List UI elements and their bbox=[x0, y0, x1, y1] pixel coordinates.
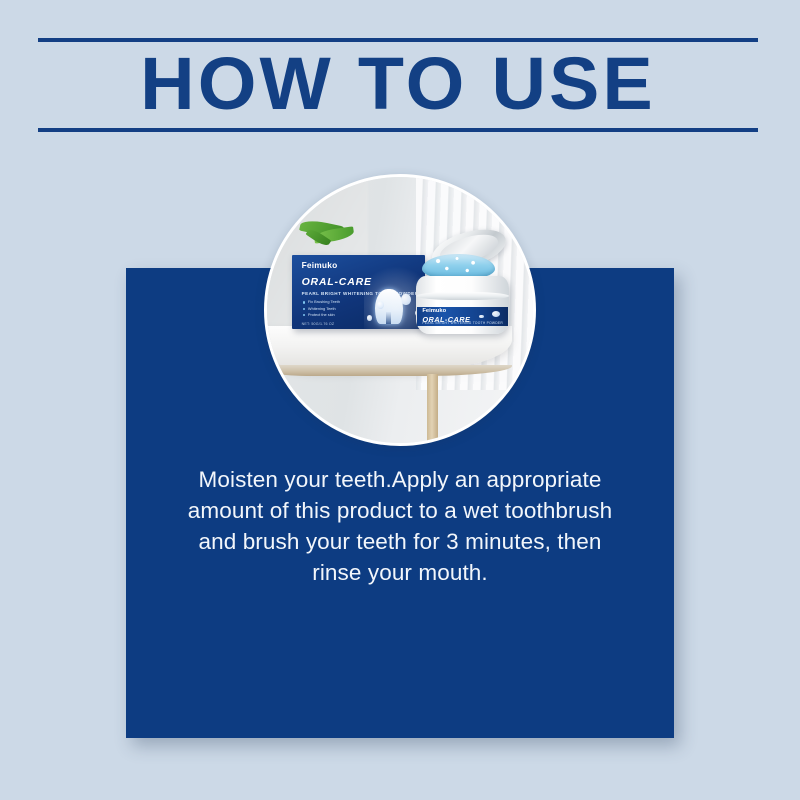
page-title: HOW TO USE bbox=[31, 40, 765, 128]
jar-body: Feimuko ORAL-CARE PEARL BRIGHT WHITENING… bbox=[416, 276, 509, 334]
bubble-icon bbox=[479, 315, 484, 319]
jar-subtitle: PEARL BRIGHT WHITENING TOOTH POWDER bbox=[422, 321, 503, 325]
jar-brand: Feimuko bbox=[422, 308, 446, 314]
poster-canvas: HOW TO USE Moisten your teeth.Apply an a… bbox=[0, 0, 800, 800]
product-photo-circle: Feimuko ORAL-CARE PEARL BRIGHT WHITENING… bbox=[264, 174, 536, 446]
bubble-icon bbox=[401, 294, 410, 306]
jar-label: Feimuko ORAL-CARE PEARL BRIGHT WHITENING… bbox=[417, 307, 508, 327]
carton-net-weight: NET: 50G/1.76 OZ bbox=[302, 322, 335, 326]
header: HOW TO USE bbox=[38, 36, 758, 136]
jar-rim bbox=[416, 292, 509, 300]
product-photo-image: Feimuko ORAL-CARE PEARL BRIGHT WHITENING… bbox=[267, 177, 533, 443]
carton-brand: Feimuko bbox=[302, 260, 338, 270]
carton-feature: Protect the skin bbox=[303, 312, 367, 318]
instruction-text: Moisten your teeth.Apply an appropriate … bbox=[182, 464, 618, 588]
carton-title: ORAL-CARE bbox=[302, 276, 372, 288]
carton-feature-list: Fix Brushing Teeth Whitening Teeth Prote… bbox=[303, 299, 367, 318]
product-jar: Feimuko ORAL-CARE PEARL BRIGHT WHITENING… bbox=[416, 249, 509, 334]
header-rule-bottom bbox=[38, 128, 758, 132]
tooth-icon bbox=[375, 289, 403, 324]
product-carton: Feimuko ORAL-CARE PEARL BRIGHT WHITENING… bbox=[292, 255, 425, 328]
bubble-icon bbox=[377, 301, 384, 309]
photo-table-leg bbox=[427, 374, 438, 443]
bubble-icon bbox=[367, 315, 372, 321]
carton-subtitle: PEARL BRIGHT WHITENING TOOTH POWDER bbox=[302, 291, 419, 296]
bubble-icon bbox=[492, 311, 500, 317]
green-leaf-icon bbox=[296, 220, 365, 249]
photo-table-edge bbox=[267, 365, 512, 376]
